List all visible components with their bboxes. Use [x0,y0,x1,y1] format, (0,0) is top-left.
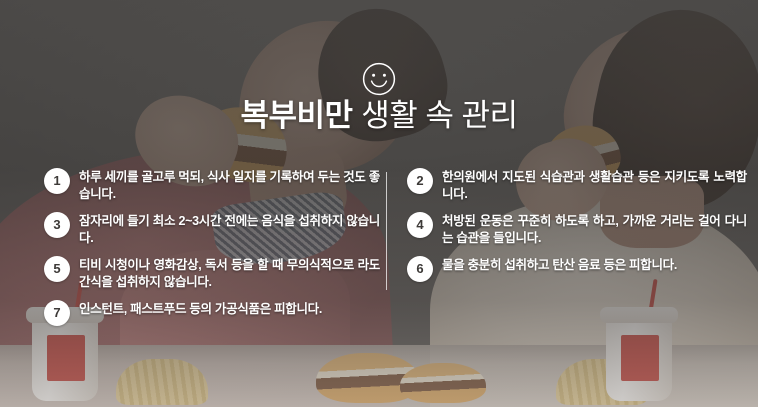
banner-content: 복부비만 생활 속 관리 1 하루 세끼를 골고루 먹되, 식사 일지를 기록하… [0,0,758,407]
list-item: 3 잠자리에 들기 최소 2~3시간 전에는 음식을 섭취하지 않습니다. [44,212,380,247]
tip-text: 한의원에서 지도된 식습관과 생활습관 등은 지키도록 노력합니다. [442,168,747,203]
tip-text: 잠자리에 들기 최소 2~3시간 전에는 음식을 섭취하지 않습니다. [79,212,380,247]
tip-number-badge: 6 [407,256,433,282]
tip-number-badge: 4 [407,212,433,238]
tip-text: 티비 시청이나 영화감상, 독서 등을 할 때 무의식적으로 라도 간식을 섭취… [79,256,380,291]
tips-column-left: 1 하루 세끼를 골고루 먹되, 식사 일지를 기록하여 두는 것도 좋습니다.… [44,168,380,341]
smiley-face-icon [362,62,396,96]
list-item: 6 물을 충분히 섭취하고 탄산 음료 등은 피합니다. [407,256,747,288]
list-item: 5 티비 시청이나 영화감상, 독서 등을 할 때 무의식적으로 라도 간식을 … [44,256,380,291]
tip-text: 물을 충분히 섭취하고 탄산 음료 등은 피합니다. [442,256,677,274]
page-title-light: 생활 속 관리 [361,98,517,133]
tip-number-badge: 2 [407,168,433,194]
tip-text: 인스턴트, 패스트푸드 등의 가공식품은 피합니다. [79,300,322,318]
list-item: 4 처방된 운동은 꾸준히 하도록 하고, 가까운 거리는 걸어 다니는 습관을… [407,212,747,247]
page-title-strong: 복부비만 [240,98,352,133]
list-item: 7 인스턴트, 패스트푸드 등의 가공식품은 피합니다. [44,300,380,332]
tip-text: 하루 세끼를 골고루 먹되, 식사 일지를 기록하여 두는 것도 좋습니다. [79,168,380,203]
page-title: 복부비만 생활 속 관리 [0,98,758,134]
list-item: 2 한의원에서 지도된 식습관과 생활습관 등은 지키도록 노력합니다. [407,168,747,203]
tip-text: 처방된 운동은 꾸준히 하도록 하고, 가까운 거리는 걸어 다니는 습관을 들… [442,212,747,247]
tip-number-badge: 3 [44,212,70,238]
tips-column-right: 2 한의원에서 지도된 식습관과 생활습관 등은 지키도록 노력합니다. 4 처… [407,168,747,297]
tip-number-badge: 7 [44,300,70,326]
abdominal-obesity-infographic-banner: 복부비만 생활 속 관리 1 하루 세끼를 골고루 먹되, 식사 일지를 기록하… [0,0,758,407]
tip-number-badge: 5 [44,256,70,282]
tip-number-badge: 1 [44,168,70,194]
list-item: 1 하루 세끼를 골고루 먹되, 식사 일지를 기록하여 두는 것도 좋습니다. [44,168,380,203]
column-divider [386,172,387,290]
